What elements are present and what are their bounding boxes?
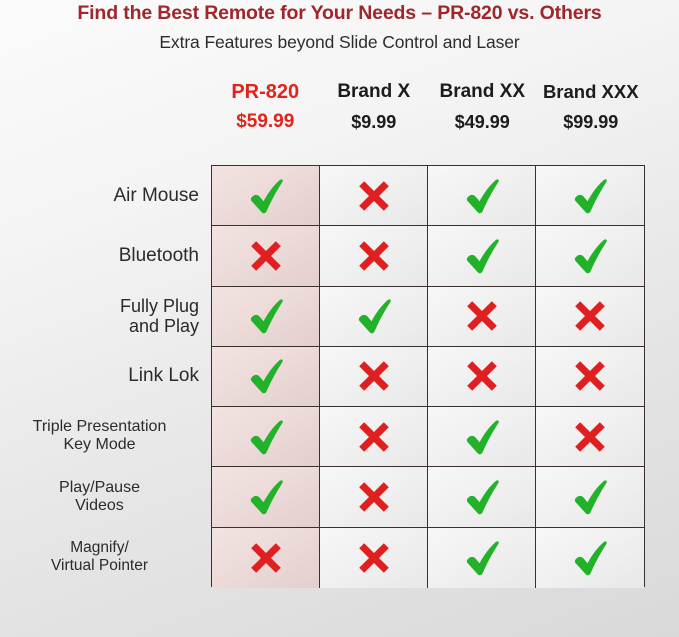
table-row — [212, 528, 644, 588]
column-header-1: Brand X$9.99 — [320, 80, 429, 146]
check-mark-icon — [354, 297, 394, 335]
cell-r1-c1-cross — [320, 226, 428, 285]
cross-mark-icon — [356, 238, 392, 274]
cell-r3-c1-cross — [320, 347, 428, 406]
feature-label-2: Fully Plugand Play — [0, 286, 205, 346]
column-price-label: $49.99 — [455, 110, 510, 134]
check-mark-icon — [246, 478, 286, 516]
table-row — [212, 226, 644, 286]
check-mark-icon — [570, 478, 610, 516]
table-row — [212, 467, 644, 527]
cell-r5-c2-check — [428, 467, 536, 526]
cross-mark-icon — [356, 540, 392, 576]
cross-mark-icon — [572, 298, 608, 334]
column-header-row: PR-820$59.99Brand X$9.99Brand XX$49.99Br… — [211, 80, 645, 146]
cross-mark-icon — [248, 238, 284, 274]
cross-mark-icon — [356, 358, 392, 394]
check-mark-icon — [462, 237, 502, 275]
feature-label-text: Triple PresentationKey Mode — [33, 418, 167, 454]
cross-mark-icon — [572, 358, 608, 394]
cross-mark-icon — [356, 178, 392, 214]
cross-mark-icon — [356, 419, 392, 455]
page-subtitle: Extra Features beyond Slide Control and … — [0, 32, 679, 53]
cell-r4-c1-cross — [320, 407, 428, 466]
cell-r2-c0-check — [212, 287, 320, 346]
column-header-3: Brand XXX$99.99 — [537, 80, 646, 146]
cell-r0-c3-check — [536, 166, 644, 225]
table-row — [212, 287, 644, 347]
cell-r5-c3-check — [536, 467, 644, 526]
table-row — [212, 166, 644, 226]
feature-label-text: Play/PauseVideos — [59, 479, 140, 515]
feature-label-4: Triple PresentationKey Mode — [0, 406, 205, 466]
page-title: Find the Best Remote for Your Needs – PR… — [0, 2, 679, 25]
feature-label-0: Air Mouse — [0, 165, 205, 225]
check-mark-icon — [246, 177, 286, 215]
cell-r0-c2-check — [428, 166, 536, 225]
cell-r3-c0-check — [212, 347, 320, 406]
table-row — [212, 407, 644, 467]
check-mark-icon — [246, 357, 286, 395]
comparison-table-infographic: Find the Best Remote for Your Needs – PR… — [0, 0, 679, 637]
check-mark-icon — [462, 478, 502, 516]
cell-r5-c1-cross — [320, 467, 428, 526]
cross-mark-icon — [572, 419, 608, 455]
cell-r1-c2-check — [428, 226, 536, 285]
cell-r6-c2-check — [428, 528, 536, 588]
feature-label-text: Air Mouse — [113, 185, 199, 206]
cross-mark-icon — [248, 540, 284, 576]
check-mark-icon — [246, 418, 286, 456]
feature-label-6: Magnify/Virtual Pointer — [0, 527, 205, 587]
cell-r6-c0-cross — [212, 528, 320, 588]
cell-r3-c3-cross — [536, 347, 644, 406]
cell-r2-c3-cross — [536, 287, 644, 346]
cell-r6-c3-check — [536, 528, 644, 588]
column-price-label: $9.99 — [351, 110, 396, 134]
check-mark-icon — [570, 539, 610, 577]
column-price-label: $59.99 — [236, 110, 294, 134]
cell-r2-c2-cross — [428, 287, 536, 346]
cross-mark-icon — [464, 358, 500, 394]
cell-r5-c0-check — [212, 467, 320, 526]
cell-r3-c2-cross — [428, 347, 536, 406]
feature-label-text: Bluetooth — [119, 245, 199, 266]
cross-mark-icon — [464, 298, 500, 334]
column-brand-label: Brand X — [337, 80, 410, 104]
cell-r2-c1-check — [320, 287, 428, 346]
comparison-grid — [211, 165, 645, 587]
table-row — [212, 347, 644, 407]
check-mark-icon — [570, 237, 610, 275]
column-brand-label: Brand XXX — [543, 80, 639, 104]
feature-label-text: Magnify/Virtual Pointer — [51, 539, 148, 574]
cell-r6-c1-cross — [320, 528, 428, 588]
cell-r1-c0-cross — [212, 226, 320, 285]
column-brand-label: PR-820 — [231, 80, 299, 104]
check-mark-icon — [462, 418, 502, 456]
cell-r4-c2-check — [428, 407, 536, 466]
cell-r4-c3-cross — [536, 407, 644, 466]
cross-mark-icon — [356, 479, 392, 515]
check-mark-icon — [570, 177, 610, 215]
column-brand-label: Brand XX — [439, 80, 525, 104]
feature-label-1: Bluetooth — [0, 225, 205, 285]
feature-label-3: Link Lok — [0, 346, 205, 406]
column-header-2: Brand XX$49.99 — [428, 80, 537, 146]
check-mark-icon — [462, 539, 502, 577]
column-header-0: PR-820$59.99 — [211, 80, 320, 146]
cell-r4-c0-check — [212, 407, 320, 466]
feature-label-text: Link Lok — [128, 365, 199, 386]
cell-r1-c3-check — [536, 226, 644, 285]
column-price-label: $99.99 — [563, 110, 618, 134]
cell-r0-c0-check — [212, 166, 320, 225]
check-mark-icon — [462, 177, 502, 215]
feature-label-text: Fully Plugand Play — [120, 296, 199, 336]
feature-label-column: Air MouseBluetoothFully Plugand PlayLink… — [0, 165, 205, 587]
check-mark-icon — [246, 297, 286, 335]
feature-label-5: Play/PauseVideos — [0, 466, 205, 526]
cell-r0-c1-cross — [320, 166, 428, 225]
